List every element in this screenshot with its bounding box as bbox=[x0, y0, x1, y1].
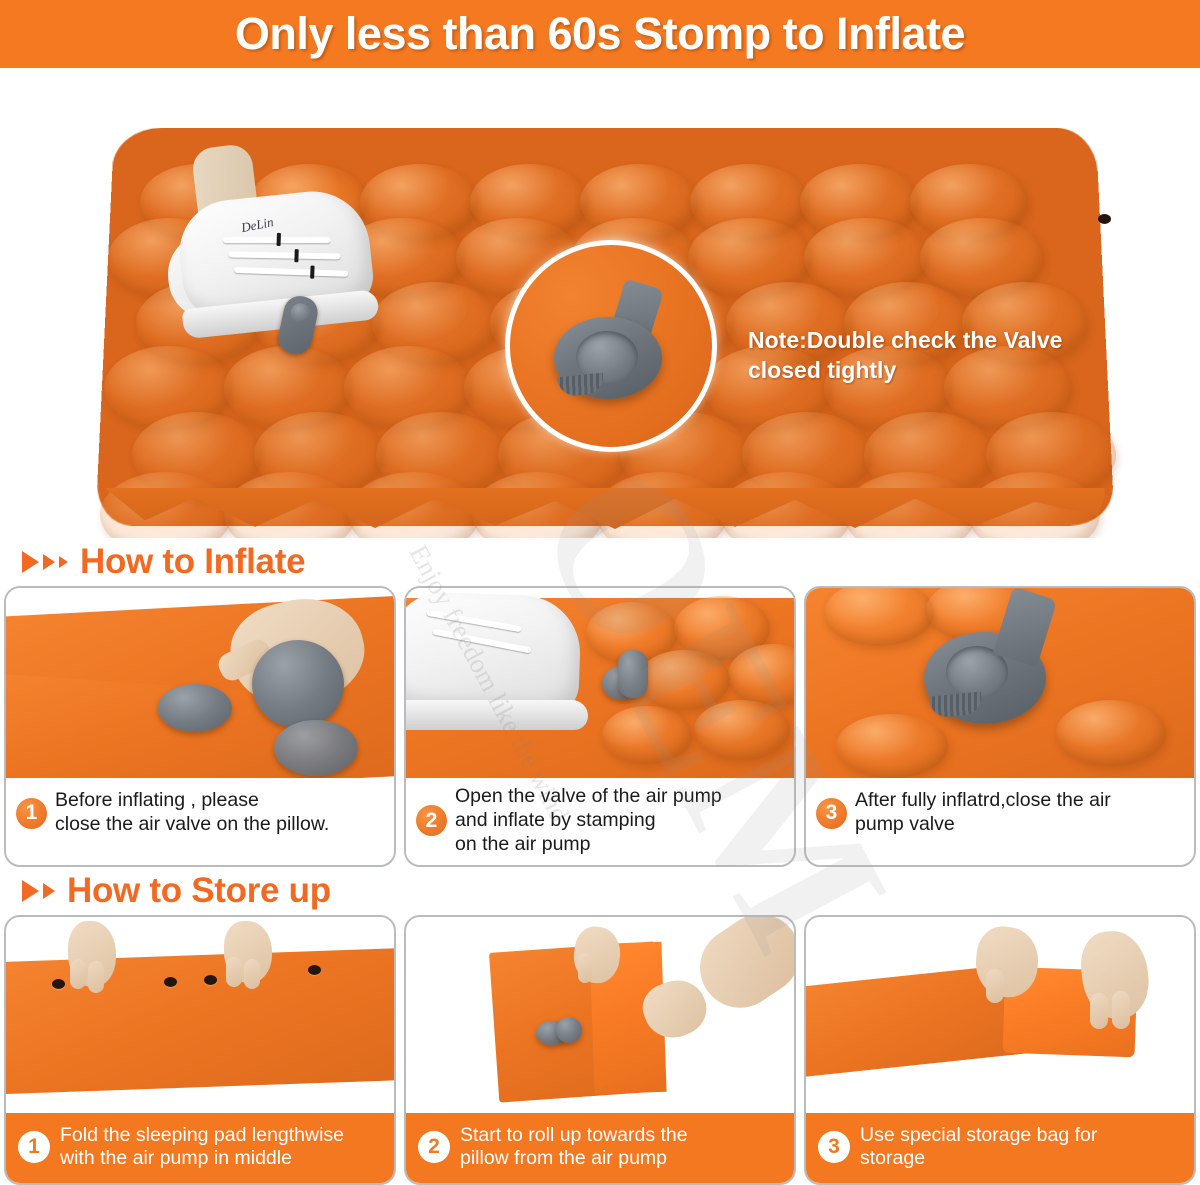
finger bbox=[226, 957, 242, 987]
baffle-bump bbox=[638, 650, 730, 710]
valve-cap bbox=[252, 640, 344, 728]
page-title: Only less than 60s Stomp to Inflate bbox=[235, 8, 965, 60]
arrow-icon bbox=[22, 880, 39, 902]
baffle-bump bbox=[602, 706, 692, 764]
valve-closeup-callout bbox=[505, 240, 717, 452]
step-badge: 3 bbox=[816, 798, 847, 829]
step-text-line: with the air pump in middle bbox=[60, 1147, 344, 1171]
section-title-inflate: How to Inflate bbox=[80, 542, 305, 582]
step-text-line: storage bbox=[860, 1147, 1097, 1171]
store-step-card-3[interactable]: 3 Use special storage bag for storage bbox=[804, 915, 1196, 1185]
step-text-line: Fold the sleeping pad lengthwise bbox=[60, 1124, 344, 1148]
lace-marker bbox=[310, 266, 314, 279]
baffle-bump bbox=[694, 700, 790, 760]
step-text-line: pillow from the air pump bbox=[460, 1147, 688, 1171]
sneaker-icon bbox=[406, 591, 582, 716]
inflate-step-caption-1: 1 Before inflating , please close the ai… bbox=[6, 778, 394, 850]
step-text: Start to roll up towards the pillow from… bbox=[460, 1124, 688, 1172]
valve-note-line-1: Note:Double check the Valve bbox=[748, 326, 1062, 356]
store-step-card-1[interactable]: 1 Fold the sleeping pad lengthwise with … bbox=[4, 915, 396, 1185]
store-step-photo-1 bbox=[6, 917, 394, 1113]
finger bbox=[1112, 991, 1130, 1029]
arrow-icon bbox=[59, 556, 68, 568]
sneaker-icon: DeLin bbox=[161, 186, 381, 357]
step-text-line: on the air pump bbox=[455, 833, 722, 857]
step-badge: 2 bbox=[418, 1131, 450, 1163]
step-text: Use special storage bag for storage bbox=[860, 1124, 1097, 1172]
inflate-step-card-1[interactable]: 1 Before inflating , please close the ai… bbox=[4, 586, 396, 867]
baffle-bump bbox=[836, 714, 948, 778]
store-step-caption-1: 1 Fold the sleeping pad lengthwise with … bbox=[6, 1113, 394, 1183]
store-step-caption-2: 2 Start to roll up towards the pillow fr… bbox=[406, 1113, 794, 1183]
inflate-step-photo-2 bbox=[406, 588, 794, 778]
step-text: After fully inflatrd,close the air pump … bbox=[855, 789, 1111, 837]
step-text: Fold the sleeping pad lengthwise with th… bbox=[60, 1124, 344, 1172]
step-badge: 2 bbox=[416, 805, 447, 836]
folded-pad bbox=[6, 948, 394, 1095]
baffle-bump bbox=[1056, 700, 1166, 766]
step-text-line: pump valve bbox=[855, 813, 1111, 837]
inflate-panel-row: 1 Before inflating , please close the ai… bbox=[0, 586, 1200, 867]
step-badge: 3 bbox=[818, 1131, 850, 1163]
shoe-sole bbox=[406, 700, 588, 730]
header-banner: Only less than 60s Stomp to Inflate bbox=[0, 0, 1200, 68]
hero-image: DeLin Note:Double check the Valve closed… bbox=[0, 68, 1200, 538]
valve-note-line-2: closed tightly bbox=[748, 356, 1062, 386]
arrow-icon bbox=[43, 883, 55, 899]
step-text: Open the valve of the air pump and infla… bbox=[455, 785, 722, 856]
store-step-caption-3: 3 Use special storage bag for storage bbox=[806, 1113, 1194, 1183]
lace-marker bbox=[294, 249, 298, 262]
finger bbox=[986, 969, 1004, 1003]
arrow-icon bbox=[43, 554, 55, 570]
step-text-line: Start to roll up towards the bbox=[460, 1124, 688, 1148]
step-text-line: After fully inflatrd,close the air bbox=[855, 789, 1111, 813]
triple-arrow-icon bbox=[22, 880, 55, 902]
pillow-valve-socket bbox=[158, 684, 232, 732]
valve-cap-lower bbox=[274, 720, 358, 776]
finger bbox=[88, 961, 104, 993]
finger bbox=[578, 953, 592, 983]
finger bbox=[70, 959, 86, 989]
step-text-line: and inflate by stamping bbox=[455, 809, 722, 833]
step-text-line: close the air valve on the pillow. bbox=[55, 813, 329, 837]
snap-button bbox=[1098, 214, 1111, 224]
store-step-photo-2 bbox=[406, 917, 794, 1113]
inflate-step-photo-1 bbox=[6, 588, 394, 778]
inflate-step-card-3[interactable]: 3 After fully inflatrd,close the air pum… bbox=[804, 586, 1196, 867]
valve-icon bbox=[554, 283, 672, 403]
inflate-step-caption-3: 3 After fully inflatrd,close the air pum… bbox=[806, 778, 1194, 850]
step-text-line: Open the valve of the air pump bbox=[455, 785, 722, 809]
finger bbox=[1090, 993, 1108, 1029]
arrow-icon bbox=[22, 551, 39, 573]
triple-arrow-icon bbox=[22, 551, 68, 573]
finger bbox=[244, 959, 260, 989]
section-heading-inflate: How to Inflate bbox=[0, 538, 1200, 586]
step-badge: 1 bbox=[18, 1131, 50, 1163]
store-step-card-2[interactable]: 2 Start to roll up towards the pillow fr… bbox=[404, 915, 796, 1185]
step-badge: 1 bbox=[16, 798, 47, 829]
step-text-line: Before inflating , please bbox=[55, 789, 329, 813]
step-text-line: Use special storage bag for bbox=[860, 1124, 1097, 1148]
section-heading-store: How to Store up bbox=[0, 867, 1200, 915]
store-panel-row: 1 Fold the sleeping pad lengthwise with … bbox=[0, 915, 1200, 1185]
valve-note-text: Note:Double check the Valve closed tight… bbox=[748, 326, 1062, 386]
inflate-step-card-2[interactable]: 2 Open the valve of the air pump and inf… bbox=[404, 586, 796, 867]
inflate-step-photo-3 bbox=[806, 588, 1194, 778]
lace-marker bbox=[277, 233, 281, 246]
section-title-store: How to Store up bbox=[67, 871, 331, 911]
inflate-step-caption-2: 2 Open the valve of the air pump and inf… bbox=[406, 778, 794, 865]
pump-valve-tab bbox=[618, 650, 648, 698]
step-text: Before inflating , please close the air … bbox=[55, 789, 329, 837]
store-step-photo-3 bbox=[806, 917, 1194, 1113]
